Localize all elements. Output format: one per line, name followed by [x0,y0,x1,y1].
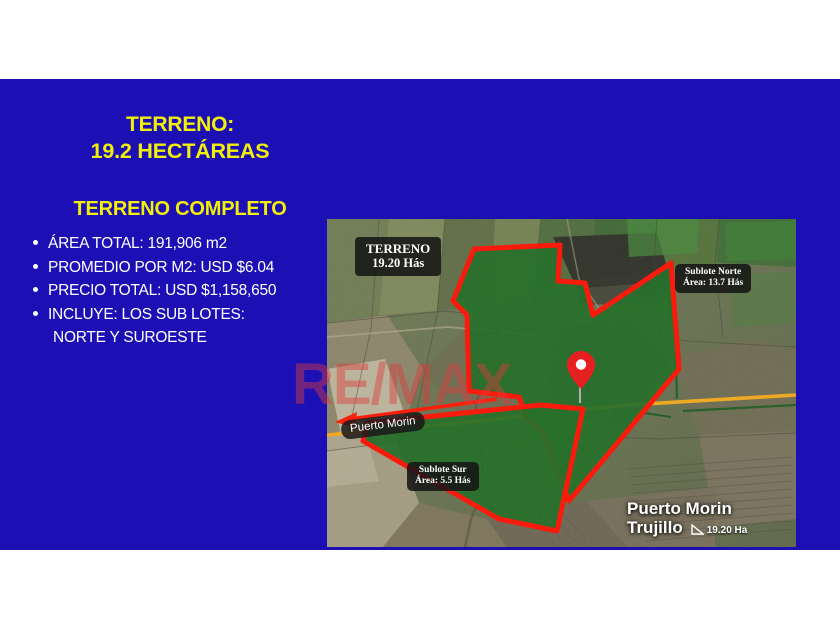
map-label-terreno-name: TERRENO [366,241,430,256]
list-item: INCLUYE: LOS SUB LOTES: NORTE Y SUROESTE [48,303,330,350]
property-details-list: ÁREA TOTAL: 191,906 m2 PROMEDIO POR M2: … [30,232,330,350]
page-title-line1: TERRENO: [30,111,330,138]
bullet-dot-icon [33,240,38,245]
property-info-column: TERRENO: 19.2 HECTÁREAS TERRENO COMPLETO… [30,111,330,350]
page-title-line2: 19.2 HECTÁREAS [30,138,330,165]
list-item-continuation: NORTE Y SUROESTE [48,326,330,350]
list-item-label: INCLUYE: LOS SUB LOTES: [48,306,245,323]
place-label-line2: Trujillo [627,518,683,537]
list-item: PRECIO TOTAL: USD $1,158,650 [48,279,330,303]
list-item: PROMEDIO POR M2: USD $6.04 [48,256,330,280]
map-label-terreno-area: 19.20 Hás [366,256,430,271]
map-label-sublote-norte: Sublote Norte Área: 13.7 Hás [675,264,751,293]
location-pin-icon[interactable] [565,349,597,391]
map-label-sublote-sur: Sublote Sur Área: 5.5 Hás [407,462,479,491]
list-item-label: PRECIO TOTAL: USD $1,158,650 [48,282,276,299]
list-item-label: PROMEDIO POR M2: USD $6.04 [48,259,274,276]
list-item-label: ÁREA TOTAL: 191,906 m2 [48,235,227,252]
blue-content-panel: TERRENO: 19.2 HECTÁREAS TERRENO COMPLETO… [0,79,840,550]
bullet-dot-icon [33,311,38,316]
area-measurement-chip: 19.20 Ha [691,521,748,540]
map-place-label: Puerto Morin Trujillo19.20 Ha [627,499,747,540]
map-label-norte-name: Sublote Norte [683,267,743,278]
place-label-line2-row: Trujillo19.20 Ha [627,518,747,540]
slide-canvas: TERRENO: 19.2 HECTÁREAS TERRENO COMPLETO… [0,0,840,630]
place-label-line1: Puerto Morin [627,499,747,518]
area-measurement-value: 19.20 Ha [707,525,748,536]
bullet-dot-icon [33,287,38,292]
map-label-norte-area: Área: 13.7 Hás [683,278,743,289]
list-item: ÁREA TOTAL: 191,906 m2 [48,232,330,256]
map-label-terreno: TERRENO 19.20 Hás [355,237,441,276]
map-label-sur-name: Sublote Sur [415,465,471,476]
section-subtitle: TERRENO COMPLETO [30,198,330,221]
bullet-dot-icon [33,264,38,269]
area-triangle-icon [691,524,704,535]
map-label-sur-area: Área: 5.5 Hás [415,476,471,487]
satellite-map[interactable]: TERRENO 19.20 Hás Sublote Norte Área: 13… [327,219,796,547]
